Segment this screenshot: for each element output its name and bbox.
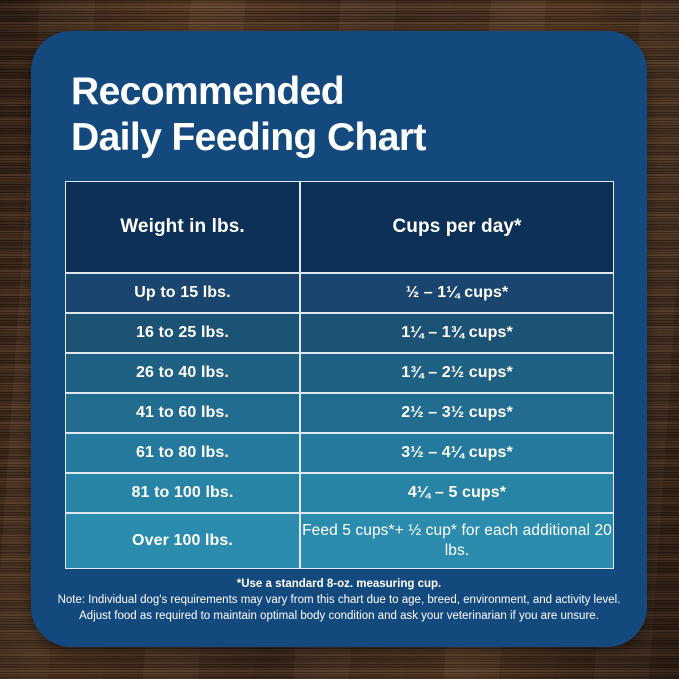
footnote-measuring-cup: *Use a standard 8-oz. measuring cup.: [53, 576, 625, 592]
column-header-cups: Cups per day*: [300, 181, 614, 273]
table-header-row: Weight in lbs. Cups per day*: [65, 181, 614, 273]
footnote-note-line: Note: Individual dog's requirements may …: [53, 592, 625, 608]
page-title-line-1: Recommended: [71, 69, 607, 115]
cell-weight: 41 to 60 lbs.: [65, 393, 300, 433]
cell-weight: Over 100 lbs.: [65, 513, 300, 569]
table-row: 61 to 80 lbs.3½ – 4¼ cups*: [65, 433, 614, 473]
column-header-weight: Weight in lbs.: [65, 181, 300, 273]
page-title-line-2: Daily Feeding Chart: [71, 115, 607, 161]
feeding-chart-card: Recommended Daily Feeding Chart Weight i…: [31, 31, 647, 647]
cell-cups: 2½ – 3½ cups*: [300, 393, 614, 433]
cell-cups: Feed 5 cups*+ ½ cup* for each additional…: [300, 513, 614, 569]
cell-weight: Up to 15 lbs.: [65, 273, 300, 313]
cell-cups: 3½ – 4¼ cups*: [300, 433, 614, 473]
table-row: 16 to 25 lbs.1¼ – 1¾ cups*: [65, 313, 614, 353]
feeding-chart-table: Weight in lbs. Cups per day* Up to 15 lb…: [65, 181, 614, 569]
table-body: Up to 15 lbs.½ – 1¼ cups*16 to 25 lbs.1¼…: [65, 273, 614, 569]
table-row: 26 to 40 lbs.1¾ – 2½ cups*: [65, 353, 614, 393]
table-row: 81 to 100 lbs.4¼ – 5 cups*: [65, 473, 614, 513]
table-row: Over 100 lbs.Feed 5 cups*+ ½ cup* for ea…: [65, 513, 614, 569]
footnotes-block: *Use a standard 8-oz. measuring cup. Not…: [31, 576, 647, 624]
chart-title-block: Recommended Daily Feeding Chart: [31, 31, 647, 161]
cell-cups: 4¼ – 5 cups*: [300, 473, 614, 513]
footnote-adjust-line: Adjust food as required to maintain opti…: [53, 608, 625, 624]
cell-cups: ½ – 1¼ cups*: [300, 273, 614, 313]
cell-weight: 61 to 80 lbs.: [65, 433, 300, 473]
cell-cups: 1¾ – 2½ cups*: [300, 353, 614, 393]
cell-weight: 26 to 40 lbs.: [65, 353, 300, 393]
cell-weight: 16 to 25 lbs.: [65, 313, 300, 353]
cell-weight: 81 to 100 lbs.: [65, 473, 300, 513]
cell-cups: 1¼ – 1¾ cups*: [300, 313, 614, 353]
table-row: 41 to 60 lbs.2½ – 3½ cups*: [65, 393, 614, 433]
table-row: Up to 15 lbs.½ – 1¼ cups*: [65, 273, 614, 313]
